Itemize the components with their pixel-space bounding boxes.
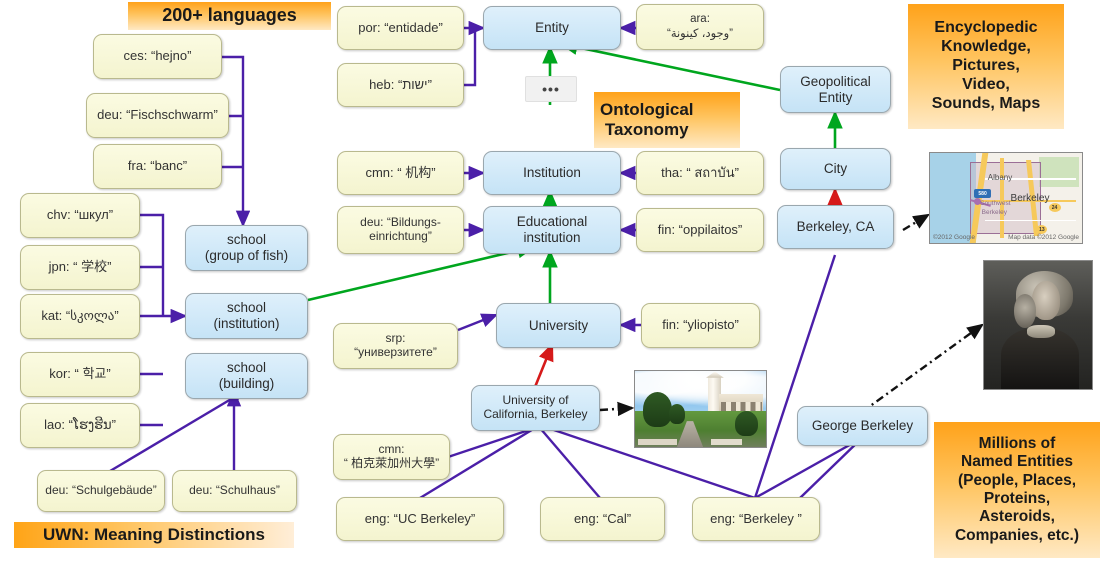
photo-wall-left [638,439,677,446]
map-road-6 [985,220,1076,221]
photo-uc-berkeley-campus[interactable] [634,370,767,448]
photo-tree-left [643,392,672,427]
lexical-node-ara-wujud[interactable]: ara: “وجود، كينونة” [636,4,764,50]
photo-tree-right [735,411,759,437]
lexical-node-deu-schulhaus[interactable]: deu: “Schulhaus” [172,470,297,512]
lexical-node-ces-hejno[interactable]: ces: “hejno” [93,34,222,79]
lexical-node-deu-schulgebaeude[interactable]: deu: “Schulgebäude” [37,470,165,512]
lexical-node-fra-banc[interactable]: fra: “banc” [93,144,222,189]
caption-200-languages: 200+ languages [128,2,331,30]
caption-named-entities: Millions of Named Entities (People, Plac… [934,422,1100,558]
concept-node-geopolitical-entity[interactable]: Geopolitical Entity [780,66,891,113]
lexical-node-cmn-jigou[interactable]: cmn: “ 机构” [337,151,464,195]
lexical-text-deu-bildung-2: einrichtung” [369,230,432,244]
concept-node-city[interactable]: City [780,148,891,190]
lexical-node-chv-shkul[interactable]: chv: “шкул” [20,193,140,238]
lexical-text-ara: “وجود، كينونة” [667,28,733,41]
lexical-node-eng-berkeley[interactable]: eng: “Berkeley ” [692,497,820,541]
concept-node-ellipsis: ••• [525,76,577,102]
lexical-text-srp: “универзитете” [354,346,437,360]
caption-uwn-meaning-distinctions: UWN: Meaning Distinctions [14,522,294,548]
lexical-node-heb-yeshut[interactable]: heb: “ישות” [337,63,464,107]
lexical-node-deu-fischschwarm[interactable]: deu: “Fischschwarm” [86,93,229,138]
map-attribution: ©2012 Google [933,234,975,241]
portrait-wig-side [1014,294,1036,327]
concept-node-institution[interactable]: Institution [483,151,621,195]
lexical-node-kor-hakgyo[interactable]: kor: “ 학교” [20,352,140,397]
map-shield-24: 24 [1049,203,1061,212]
lexical-node-lao-hongtian[interactable]: lao: “ໂຮງຮີນ” [20,403,140,448]
map-green-area [1039,157,1079,188]
lexical-node-cmn-berkeley-university[interactable]: cmn: “ 柏克萊加州大學” [333,434,450,480]
concept-node-school-institution[interactable]: school (institution) [185,293,308,339]
caption-ontological-taxonomy: Ontological Taxonomy [594,92,740,148]
photo-tree-mid [669,404,685,424]
lexical-lang-srp: srp: [385,332,405,346]
lexical-node-kat-skola[interactable]: kat: “სკოლა” [20,294,140,339]
lexical-lang-ara: ara: [690,13,710,26]
caption-encyclopedic-knowledge: Encyclopedic Knowledge, Pictures, Video,… [908,4,1064,129]
lexical-lang-cmn-ucb: cmn: [378,443,404,457]
portrait-collar [1027,325,1055,338]
map-berkeley-image[interactable]: 580 24 13 Albany Berkeley Southwest Berk… [929,152,1083,244]
lexical-node-fin-oppilaitos[interactable]: fin: “oppilaitos” [636,208,764,252]
concept-node-school-group-of-fish[interactable]: school (group of fish) [185,225,308,271]
concept-node-school-building[interactable]: school (building) [185,353,308,399]
lexical-node-eng-uc-berkeley[interactable]: eng: “UC Berkeley” [336,497,504,541]
map-label-southwest: Southwest [980,200,1010,207]
diagram-canvas: 200+ languages Ontological Taxonomy Ency… [0,0,1113,570]
map-attribution-data: Map data ©2012 Google [1008,234,1079,241]
lexical-node-por-entidade[interactable]: por: “entidade” [337,6,464,50]
concept-node-berkeley-ca[interactable]: Berkeley, CA [777,205,894,249]
lexical-node-deu-bildungseinrichtung[interactable]: deu: “Bildungs- einrichtung” [337,206,464,254]
lexical-text-cmn-ucb: “ 柏克萊加州大學” [344,457,439,471]
lexical-node-jpn-gakkou[interactable]: jpn: “ 学校” [20,245,140,290]
map-shield-580: 580 [974,189,991,198]
map-label-albany: Albany [988,173,1012,182]
concept-node-george-berkeley[interactable]: George Berkeley [797,406,928,446]
map-label-southwest-berkeley: Berkeley [982,209,1007,216]
lexical-node-srp-univerzitete[interactable]: srp: “универзитете” [333,323,458,369]
lexical-node-eng-cal[interactable]: eng: “Cal” [540,497,665,541]
map-shield-13: 13 [1036,225,1047,234]
photo-wall-right [711,439,742,446]
map-road-2 [1000,158,1005,237]
concept-node-entity[interactable]: Entity [483,6,621,50]
concept-node-educational-institution[interactable]: Educational institution [483,206,621,254]
map-label-berkeley: Berkeley [1011,193,1050,204]
portrait-george-berkeley-image[interactable] [983,260,1093,390]
lexical-node-fin-yliopisto[interactable]: fin: “yliopisto” [641,303,760,348]
concept-node-uc-berkeley[interactable]: University of California, Berkeley [471,385,600,431]
lexical-node-tha-sathaban[interactable]: tha: “ สถาบัน” [636,151,764,195]
concept-node-university[interactable]: University [496,303,621,348]
lexical-text-deu-bildung-1: deu: “Bildungs- [360,216,441,230]
